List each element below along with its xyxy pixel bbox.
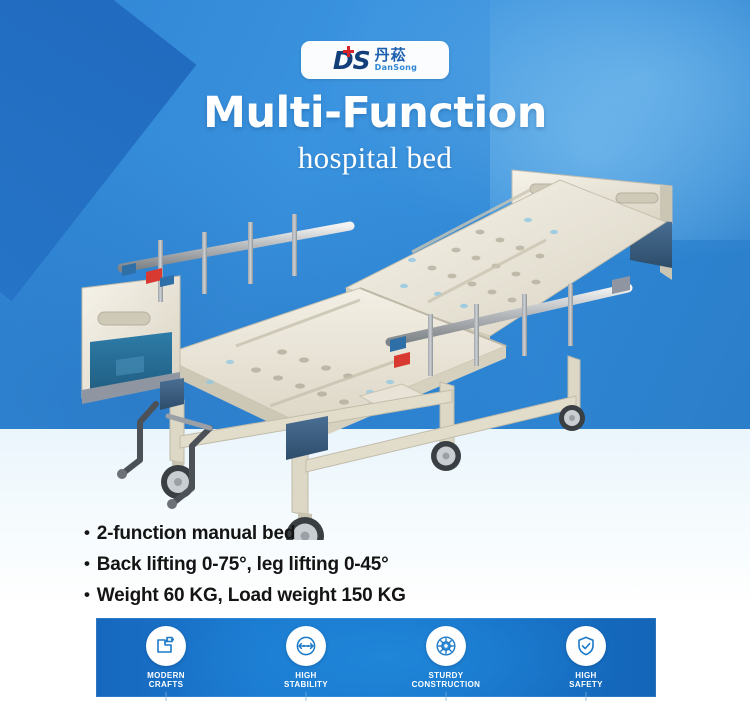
bullet-marker: • <box>84 524 90 542</box>
feature-label-line2: SAFETY <box>569 680 603 689</box>
bullet-marker: • <box>84 586 90 604</box>
feature-label-line2: STABILITY <box>284 680 328 689</box>
feature-label-line1: HIGH <box>575 671 596 680</box>
feature-label-line1: STURDY <box>429 671 464 680</box>
logo-chinese-name: 丹菘 <box>375 48 407 63</box>
sturdy-gear-icon <box>426 626 466 666</box>
stability-arrows-icon <box>286 626 326 666</box>
bullet-text: 2-function manual bed <box>97 524 295 543</box>
page-title: Multi-Function <box>0 88 750 138</box>
list-item: • Back lifting 0-75°, leg lifting 0-45° <box>84 555 604 574</box>
logo-wordmark: 丹菘 DanSong <box>375 48 418 72</box>
medical-cross-icon <box>343 46 354 57</box>
logo-monogram: DS <box>333 48 370 73</box>
feature-label: HIGH SAFETY <box>569 671 603 690</box>
feature-label-line2: CRAFTS <box>149 680 184 689</box>
bullet-text: Weight 60 KG, Load weight 150 KG <box>97 586 406 605</box>
feature-tick <box>586 692 587 701</box>
feature-label: STURDY CONSTRUCTION <box>412 671 481 690</box>
feature-tick <box>446 692 447 701</box>
feature-high-stability: HIGH STABILITY <box>247 626 365 690</box>
list-item: • Weight 60 KG, Load weight 150 KG <box>84 586 604 605</box>
bullet-marker: • <box>84 555 90 573</box>
product-banner: DS 丹菘 DanSong Multi-Function hospital be… <box>0 0 750 728</box>
feature-label: MODERN CRAFTS <box>147 671 185 690</box>
feature-bullet-list: • 2-function manual bed • Back lifting 0… <box>84 524 604 617</box>
logo-pinyin: DanSong <box>375 64 418 72</box>
feature-label-line1: MODERN <box>147 671 185 680</box>
craft-tool-icon <box>146 626 186 666</box>
product-photo <box>60 160 700 540</box>
brand-logo: DS 丹菘 DanSong <box>301 41 449 79</box>
shield-check-icon <box>566 626 606 666</box>
feature-high-safety: HIGH SAFETY <box>527 626 645 690</box>
feature-tick <box>166 692 167 701</box>
feature-modern-crafts: MODERN CRAFTS <box>107 626 225 690</box>
feature-tick <box>306 692 307 701</box>
feature-label-line2: CONSTRUCTION <box>412 680 481 689</box>
feature-sturdy-construction: STURDY CONSTRUCTION <box>387 626 505 690</box>
bullet-text: Back lifting 0-75°, leg lifting 0-45° <box>97 555 389 574</box>
feature-label: HIGH STABILITY <box>284 671 328 690</box>
feature-highlight-bar: MODERN CRAFTS HIGH STABILITY <box>96 618 656 697</box>
list-item: • 2-function manual bed <box>84 524 604 543</box>
feature-label-line1: HIGH <box>295 671 316 680</box>
